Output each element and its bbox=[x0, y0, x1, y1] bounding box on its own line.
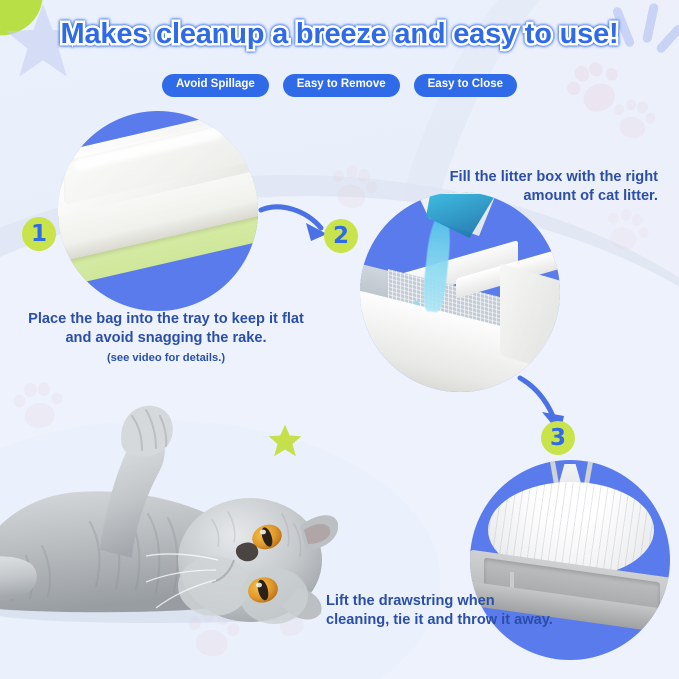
feature-badge-easy-to-close[interactable]: Easy to Close bbox=[414, 74, 517, 97]
page-title: Makes cleanup a breeze and easy to use! bbox=[0, 18, 679, 51]
step-2-caption: Fill the litter box with the right amoun… bbox=[396, 168, 658, 207]
step-3-caption: Lift the drawstring when cleaning, tie i… bbox=[326, 592, 556, 631]
step-3-number-badge: 3 bbox=[541, 421, 575, 455]
drawstring-left bbox=[550, 460, 559, 486]
feature-badge-avoid-spillage[interactable]: Avoid Spillage bbox=[162, 74, 269, 97]
step-1-number-badge: 1 bbox=[22, 217, 56, 251]
paw-print-icon bbox=[598, 200, 657, 259]
step-1-subcaption: (see video for details.) bbox=[26, 351, 306, 366]
feature-badge-list: Avoid Spillage Easy to Remove Easy to Cl… bbox=[0, 74, 679, 97]
drawstring-right bbox=[584, 460, 593, 486]
cat-photo bbox=[0, 400, 338, 632]
step-1-caption-text: Place the bag into the tray to keep it f… bbox=[28, 311, 304, 346]
step-2-number-badge: 2 bbox=[324, 219, 358, 253]
infographic-page: Makes cleanup a breeze and easy to use! … bbox=[0, 0, 679, 679]
paw-print-icon bbox=[609, 93, 660, 144]
step-2-image-circle bbox=[360, 192, 560, 392]
feature-badge-easy-to-remove[interactable]: Easy to Remove bbox=[283, 74, 400, 97]
step-1-image-circle bbox=[58, 111, 258, 311]
step-1-caption: Place the bag into the tray to keep it f… bbox=[26, 310, 306, 365]
